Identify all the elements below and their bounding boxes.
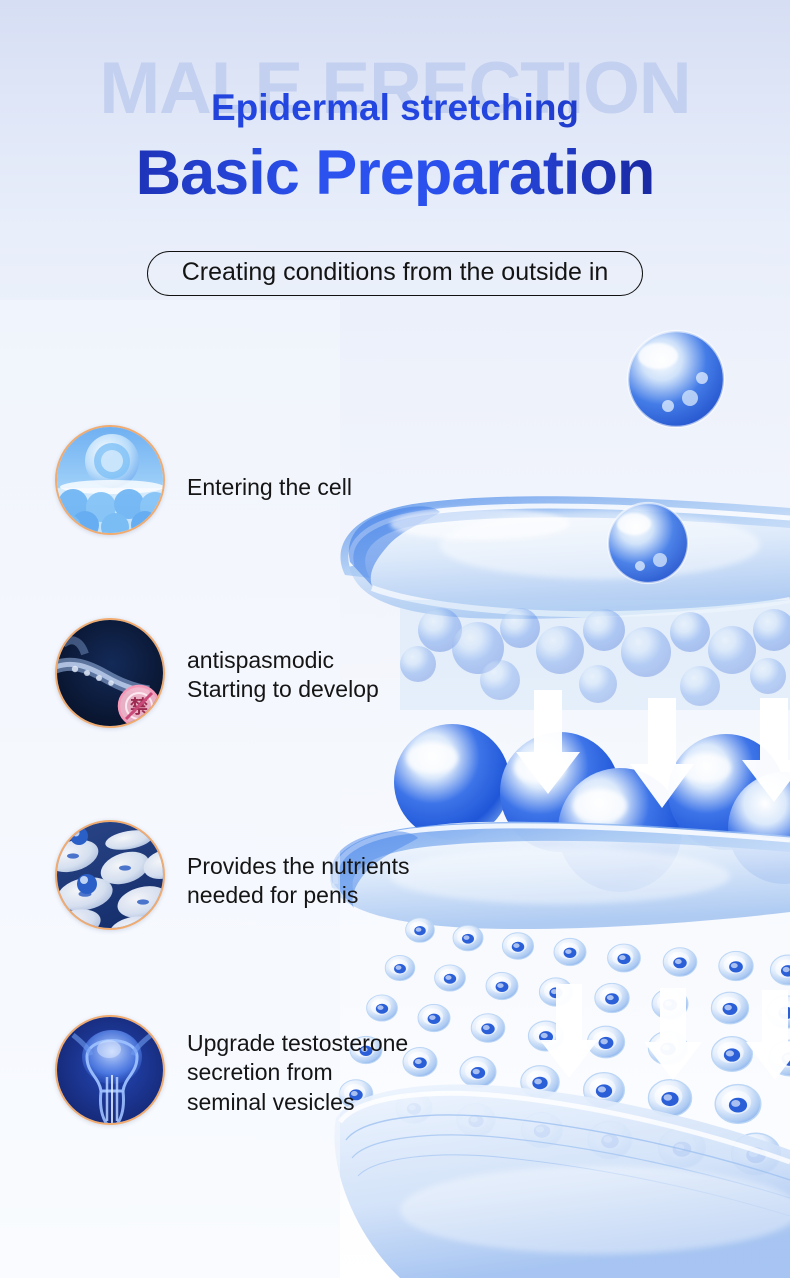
subtitle-pill-wrap: Creating conditions from the outside in: [0, 251, 790, 296]
seminal-vesicle-scan-icon: [55, 1015, 165, 1125]
prohibition-badge: 禁: [119, 686, 159, 726]
gel-sphere-row: [394, 724, 790, 892]
feature-label: Provides the nutrients needed for penis: [187, 852, 409, 911]
page-subtitle-heading: Epidermal stretching: [0, 88, 790, 129]
flow-arrow-group-bottom: [540, 984, 790, 1080]
page-title: Basic Preparation: [0, 140, 790, 206]
feature-label: antispasmodic Starting to develop: [187, 646, 379, 705]
feature-item-entering-cell: Entering the cell: [55, 425, 352, 535]
nerve-antispasmodic-icon: 禁: [55, 618, 165, 728]
cell-absorption-icon: [55, 425, 165, 535]
nutrient-cells-icon: [55, 820, 165, 930]
gel-bubble-band: [400, 600, 790, 710]
feature-item-antispasmodic: 禁 antispasmodic Starting to develop: [55, 618, 379, 728]
feature-item-testosterone: Upgrade testosterone secretion from semi…: [55, 1015, 408, 1125]
flow-arrow-group-middle: [516, 690, 790, 808]
feature-label: Upgrade testosterone secretion from semi…: [187, 1029, 408, 1117]
gel-slab-top: [341, 496, 790, 619]
poster-root: MALE ERECTION Epidermal stretching Basic…: [0, 0, 790, 1278]
feature-label: Entering the cell: [187, 473, 352, 502]
floating-bubble-upper: [628, 331, 724, 427]
subtitle-pill: Creating conditions from the outside in: [147, 251, 644, 296]
floating-bubble-lower: [608, 503, 688, 583]
feature-item-nutrients: Provides the nutrients needed for penis: [55, 820, 409, 930]
